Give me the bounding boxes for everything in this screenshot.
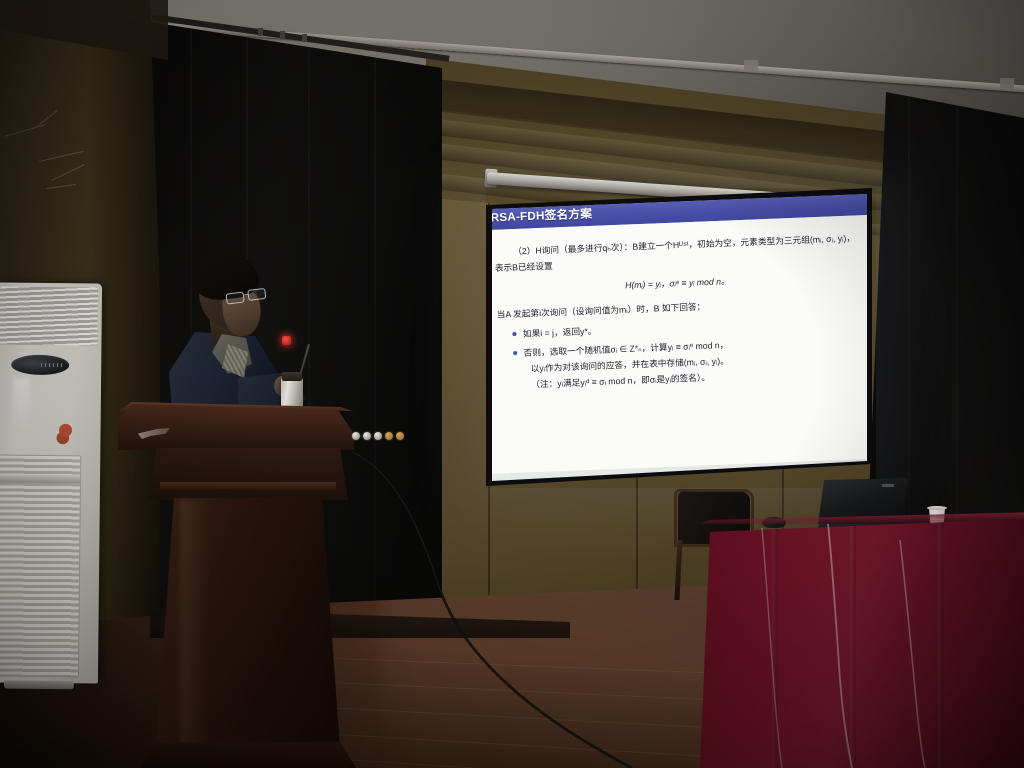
ac-highlight — [13, 379, 30, 431]
paper-cup-rim — [927, 506, 947, 510]
lectern-button[interactable] — [385, 432, 393, 440]
rail-bracket — [744, 60, 758, 71]
ac-lower-grille — [0, 454, 81, 677]
projection-screen: RSA-FDH签名方案 RSA-FDH签名方案 （2）H询问（最多进行qₕ次）：… — [492, 193, 867, 481]
rail-bracket — [1000, 78, 1014, 89]
lectern-mid — [148, 448, 348, 500]
microphone-indicator-icon — [282, 336, 291, 345]
thermos-cap — [282, 372, 302, 381]
ac-top-vent — [0, 286, 98, 345]
lectern-band — [160, 482, 336, 490]
slide-bullet-list: 如果i = j，返回y*。 否则，选取一个随机值σᵢ ∈ Z*ₙ，计算yᵢ ≡ … — [512, 312, 863, 393]
presentation-slide: RSA-FDH签名方案 RSA-FDH签名方案 （2）H询问（最多进行qₕ次）：… — [492, 193, 867, 481]
slide-body: （2）H询问（最多进行qₕ次）：B建立一个Hᴸᴵˢᵗ，初始为空，元素类型为三元组… — [492, 215, 867, 474]
laptop-logo-icon — [882, 484, 894, 487]
lectern-base — [140, 742, 356, 768]
lectern-highlight — [180, 500, 210, 750]
ac-display-panel — [11, 355, 69, 376]
lectern-button[interactable] — [363, 432, 371, 440]
ac-indicator-dots — [41, 363, 63, 367]
slide-bullet-item: 否则，选取一个随机值σᵢ ∈ Z*ₙ，计算yᵢ ≡ σᵢᵉ mod n， 以yᵢ… — [513, 332, 863, 394]
lectern-button[interactable] — [396, 432, 404, 440]
lecture-hall-scene: RSA-FDH签名方案 RSA-FDH签名方案 （2）H询问（最多进行qₕ次）：… — [0, 0, 1024, 768]
lectern-button[interactable] — [352, 432, 360, 440]
ac-grille-divider — [0, 474, 80, 483]
ac-base — [4, 681, 74, 690]
lectern-control-buttons[interactable] — [352, 432, 404, 440]
slide-bullet-text: 如果i = j，返回y*。 — [523, 326, 597, 338]
table-cloth — [700, 518, 1024, 768]
lectern-button[interactable] — [374, 432, 382, 440]
lectern-top — [118, 404, 354, 450]
ac-brand-decal-icon — [54, 421, 76, 445]
slide-paragraph: （2）H询问（最多进行qₕ次）：B建立一个Hᴸᴵˢᵗ，初始为空，元素类型为三元组… — [494, 230, 859, 277]
air-conditioner — [0, 282, 102, 683]
